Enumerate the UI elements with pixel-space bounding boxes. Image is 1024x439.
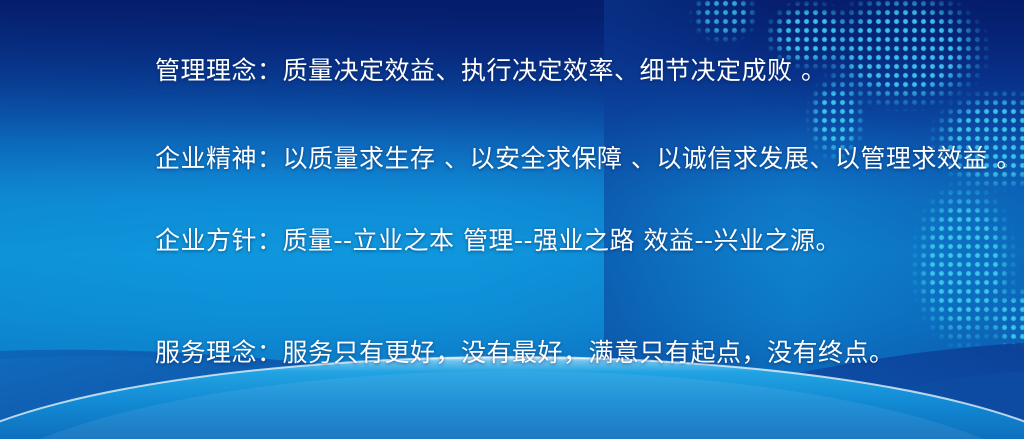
slogan-enterprise-policy: 企业方针：质量--立业之本 管理--强业之路 效益--兴业之源。 [155, 226, 841, 256]
slogan-service-philosophy: 服务理念：服务只有更好，没有最好，满意只有起点，没有终点。 [155, 338, 895, 368]
slogan-management-philosophy: 管理理念：质量决定效益、执行决定效率、细节决定成败 。 [155, 56, 826, 86]
slogan-enterprise-spirit: 企业精神：以质量求生存 、以安全求保障 、以诚信求发展、以管理求效益 。 [155, 144, 1022, 174]
corporate-culture-banner: 管理理念：质量决定效益、执行决定效率、细节决定成败 。 企业精神：以质量求生存 … [0, 0, 1024, 439]
